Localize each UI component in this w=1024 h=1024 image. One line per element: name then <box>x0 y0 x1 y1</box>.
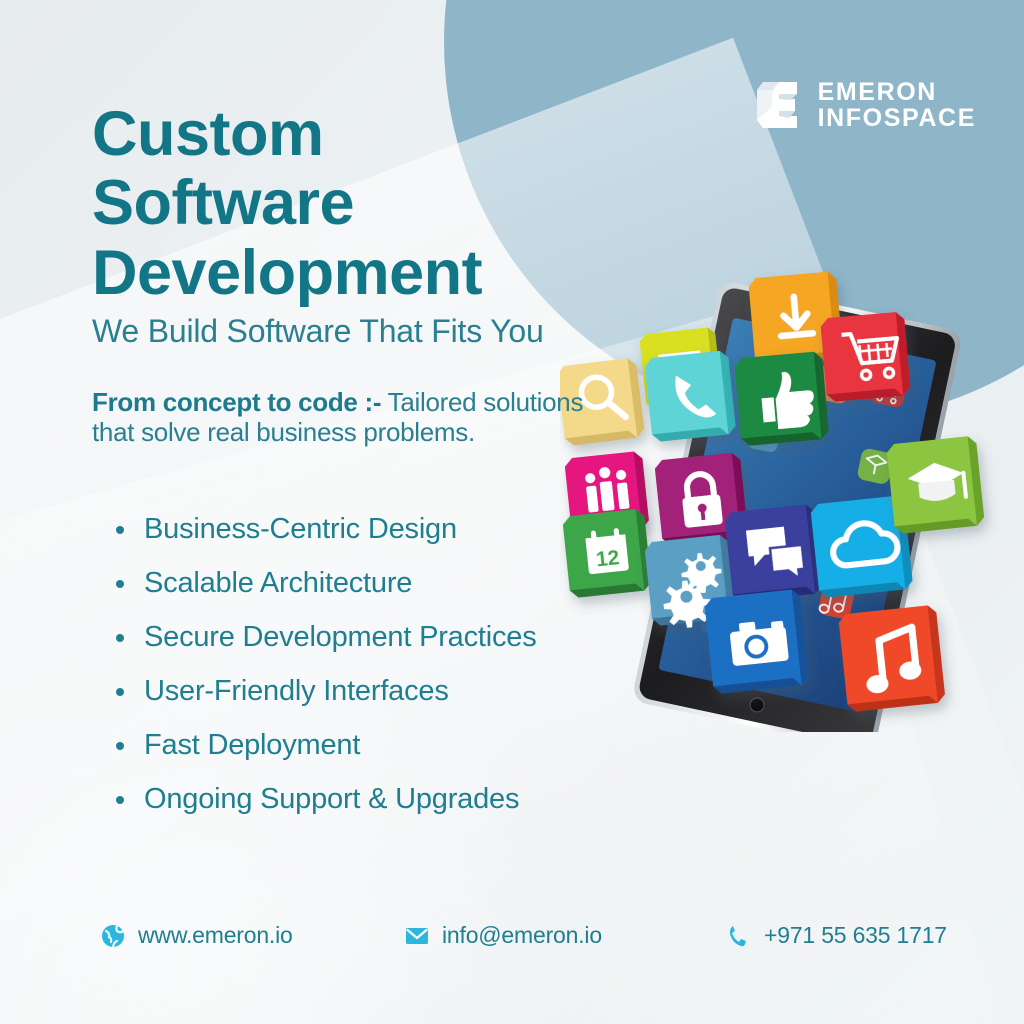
contact-email[interactable]: info@emeron.io <box>404 922 602 949</box>
contact-website[interactable]: www.emeron.io <box>100 922 293 949</box>
faceted-e-monogram-icon <box>757 78 803 132</box>
poster-canvas: 12 <box>0 0 1024 1024</box>
list-item: User-Friendly Interfaces <box>112 677 692 706</box>
list-item: Fast Deployment <box>112 731 692 760</box>
lede-lead-in: From concept to code :- <box>92 387 381 417</box>
headline-line-3: Development <box>92 238 482 308</box>
feature-list: Business-Centric Design Scalable Archite… <box>112 515 692 839</box>
list-item: Secure Development Practices <box>112 623 692 652</box>
list-item: Business-Centric Design <box>112 515 692 544</box>
logo-name-line1: EMERON <box>818 79 976 105</box>
contact-phone[interactable]: +971 55 635 1717 <box>726 922 947 949</box>
list-item: Scalable Architecture <box>112 569 692 598</box>
contact-website-text: www.emeron.io <box>138 922 293 949</box>
contact-footer: www.emeron.io info@emeron.io +971 55 635… <box>0 922 1024 962</box>
headline-subtitle: We Build Software That Fits You <box>92 313 544 350</box>
headline-line-1: Custom <box>92 99 324 169</box>
lede-paragraph: From concept to code :- Tailored solutio… <box>92 388 592 447</box>
headline-block: Custom Software Development <box>92 100 652 308</box>
logo-name-line2: INFOSPACE <box>818 105 976 131</box>
contact-email-text: info@emeron.io <box>442 922 602 949</box>
list-item: Ongoing Support & Upgrades <box>112 785 692 814</box>
brand-logo: EMERON INFOSPACE <box>757 78 976 132</box>
globe-icon <box>100 923 126 949</box>
phone-icon <box>726 923 752 949</box>
headline-line-2: Software <box>92 168 354 238</box>
envelope-icon <box>404 923 430 949</box>
contact-phone-text: +971 55 635 1717 <box>764 922 947 949</box>
page-title: Custom Software Development <box>92 100 652 308</box>
